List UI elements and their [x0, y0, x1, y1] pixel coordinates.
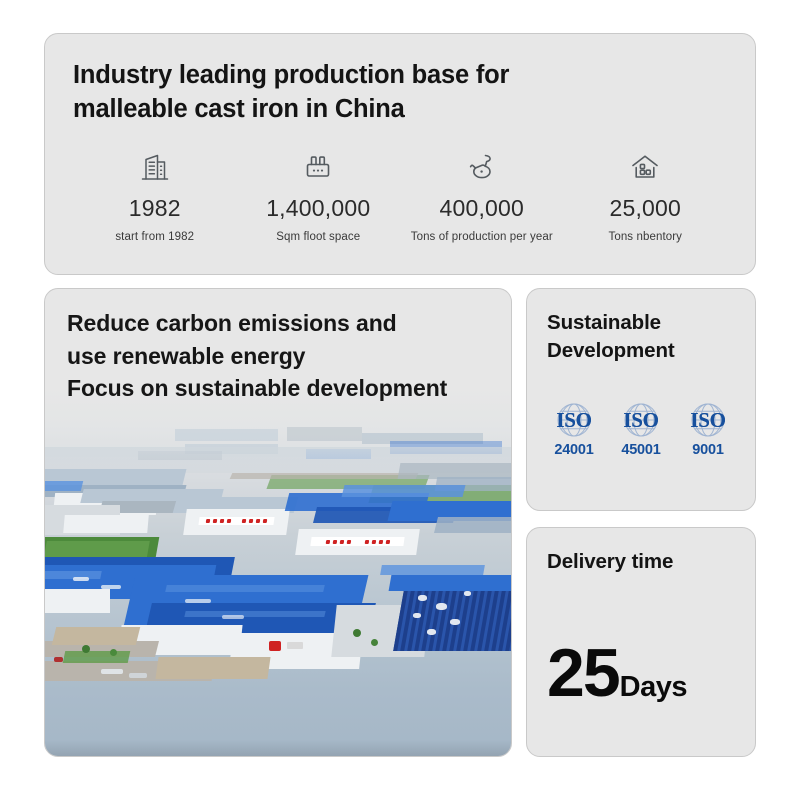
stat-value: 400,000	[439, 197, 524, 220]
delivery-time-title: Delivery time	[547, 548, 735, 576]
stat-label: Tons of production per year	[411, 231, 553, 245]
iso-mark-text: ISO	[556, 408, 591, 433]
iso-badge-45001: ISO 45001	[610, 399, 672, 458]
stat-value: 1,400,000	[266, 197, 370, 220]
sustainability-photo-card: Reduce carbon emissions and use renewabl…	[44, 288, 512, 757]
iso-number: 45001	[621, 442, 660, 458]
iso-globe-icon: ISO	[679, 399, 737, 441]
stat-item-floor-space: 1,400,000 Sqm floot space	[237, 146, 401, 245]
sustainability-heading: Reduce carbon emissions and use renewabl…	[45, 289, 511, 419]
delivery-days-unit: Days	[620, 671, 687, 704]
sustainable-development-title: Sustainable Development	[547, 309, 735, 366]
factory-aerial-photo	[45, 389, 511, 756]
iso-globe-icon: ISO	[545, 399, 603, 441]
stats-row: 1982 start from 1982 1,400,000 Sqm f	[73, 146, 727, 245]
hero-card: Industry leading production base for mal…	[44, 33, 756, 275]
warehouse-inventory-icon	[627, 146, 663, 188]
iso-certification-row: ISO 24001 ISO 45001	[543, 399, 739, 458]
delivery-time-value: 25 Days	[547, 643, 687, 704]
iso-badge-24001: ISO 24001	[543, 399, 605, 458]
delivery-time-card: Delivery time 25 Days	[526, 527, 756, 757]
iso-globe-icon: ISO	[612, 399, 670, 441]
infographic-page: Industry leading production base for mal…	[0, 0, 800, 800]
iso-badge-9001: ISO 9001	[677, 399, 739, 458]
factory-icon	[300, 146, 336, 188]
iso-number: 9001	[692, 442, 723, 458]
stat-label: Tons nbentory	[608, 231, 682, 245]
stat-label: start from 1982	[115, 231, 194, 245]
stat-value: 1982	[129, 197, 181, 220]
casting-ladle-icon	[463, 146, 501, 188]
sustainable-development-card: Sustainable Development ISO 24001	[526, 288, 756, 511]
iso-number: 24001	[554, 442, 593, 458]
stat-label: Sqm floot space	[276, 231, 360, 245]
stat-item-inventory: 25,000 Tons nbentory	[564, 146, 728, 245]
hero-title: Industry leading production base for mal…	[73, 58, 727, 126]
office-building-icon	[137, 146, 173, 188]
stat-value: 25,000	[609, 197, 681, 220]
iso-mark-text: ISO	[690, 408, 725, 433]
delivery-days-number: 25	[547, 643, 619, 704]
iso-mark-text: ISO	[623, 408, 658, 433]
stat-item-start-year: 1982 start from 1982	[73, 146, 237, 245]
stat-item-production: 400,000 Tons of production per year	[400, 146, 564, 245]
